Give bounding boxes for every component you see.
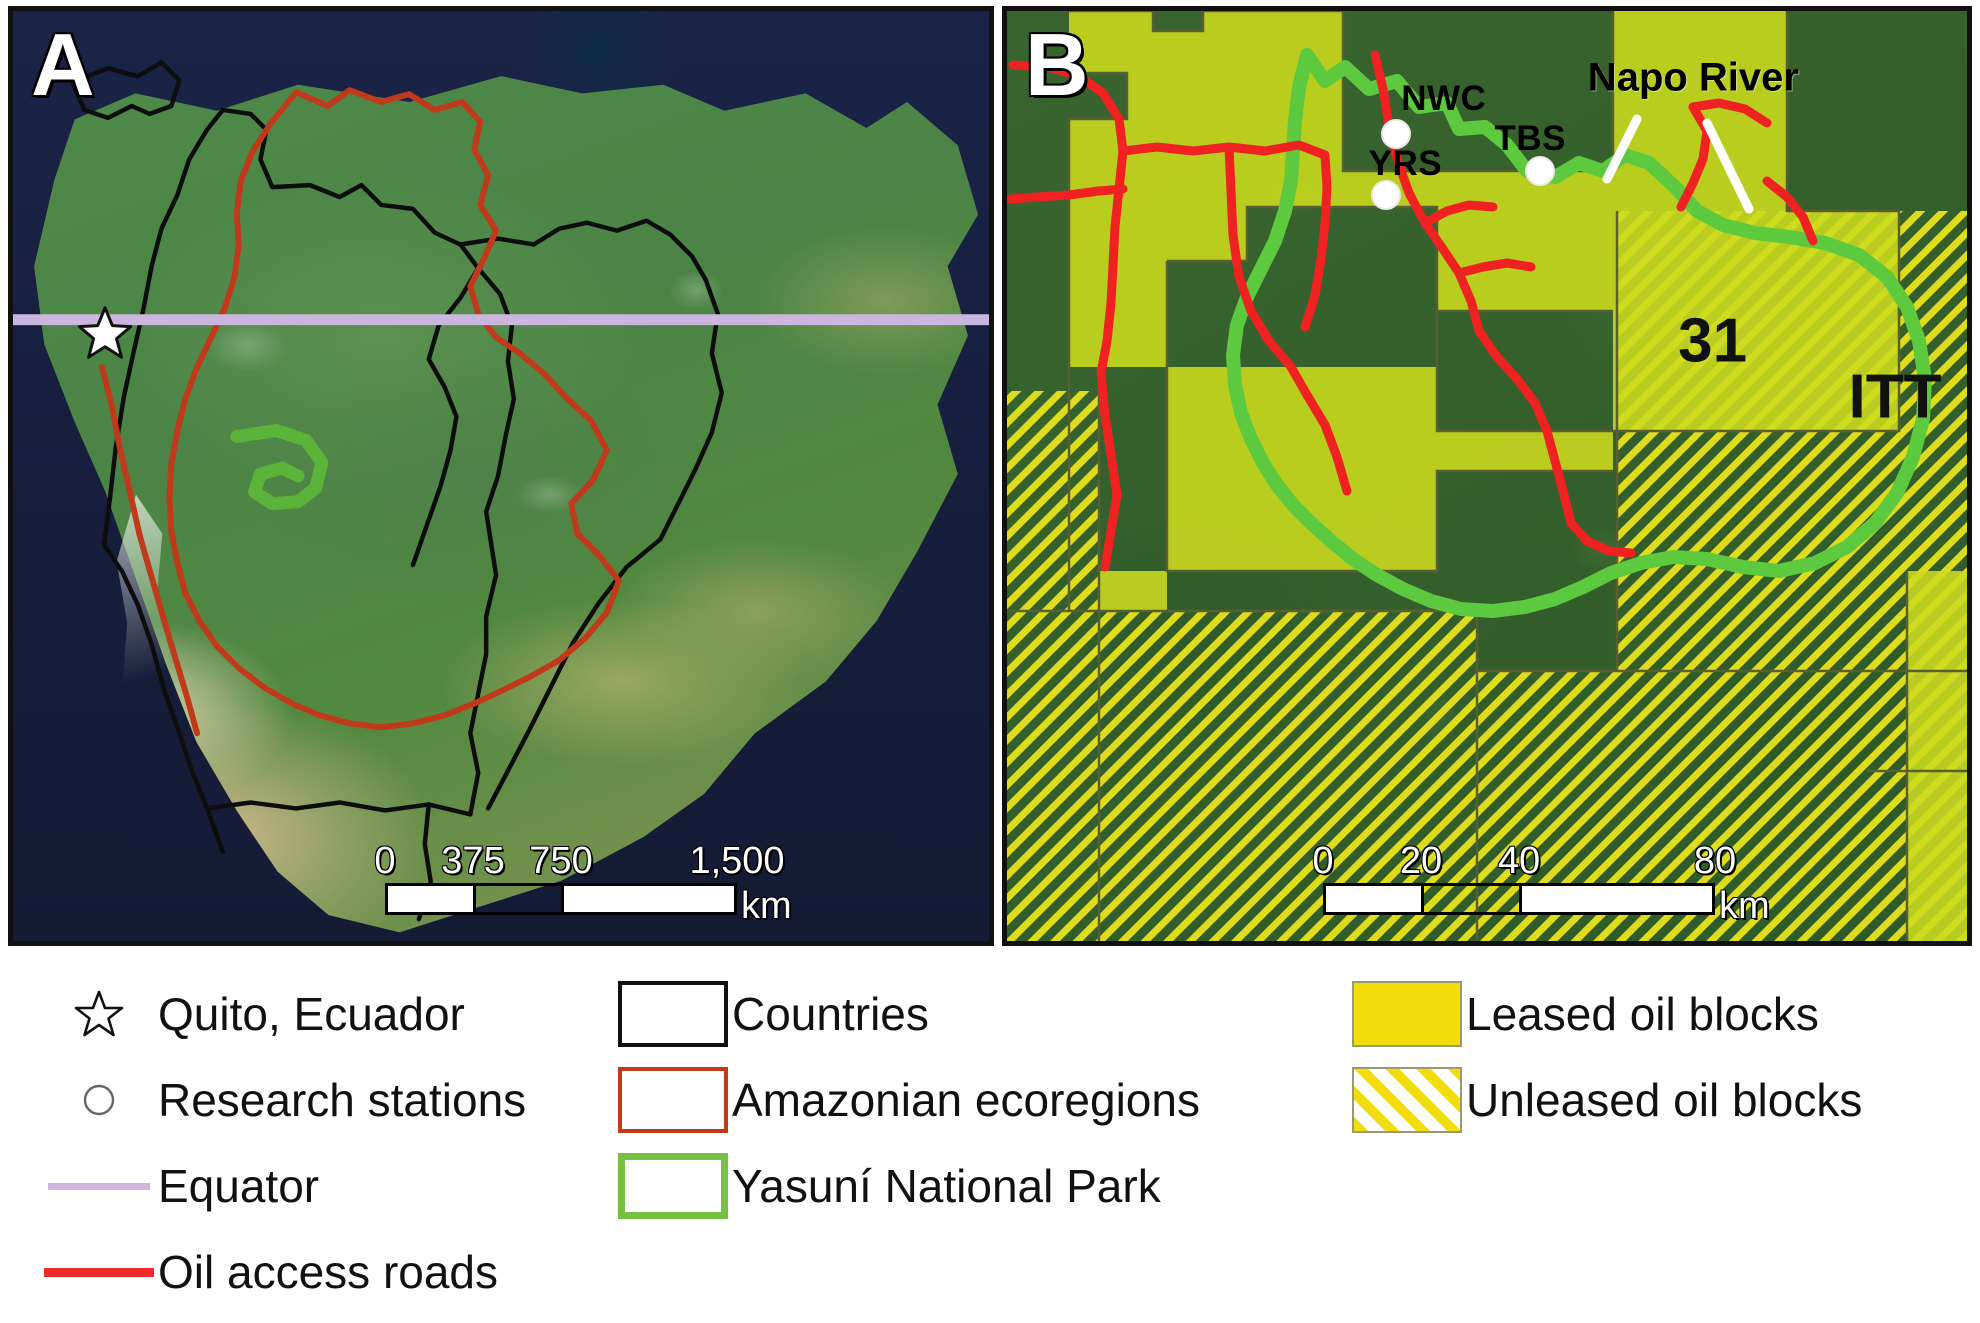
- panel-b-scalebar-ticks: 0 20 40 80: [1323, 837, 1715, 883]
- station-label-nwc: NWC: [1401, 79, 1486, 119]
- legend-label-leased-blocks: Leased oil blocks: [1466, 987, 1819, 1041]
- station-label-yrs: YRS: [1369, 144, 1442, 184]
- box-yellow-hatch-icon: [1348, 1067, 1466, 1133]
- legend-item-oil-roads[interactable]: Oil access roads: [40, 1237, 498, 1307]
- station-marker-tbs[interactable]: [1525, 156, 1555, 186]
- legend-label-research-stations: Research stations: [158, 1073, 526, 1127]
- oil-block-31-label: 31: [1678, 306, 1747, 377]
- scalebar-segment: [388, 886, 476, 912]
- box-yellow-fill-icon: [1348, 981, 1466, 1047]
- legend-label-quito: Quito, Ecuador: [158, 987, 465, 1041]
- legend-label-countries: Countries: [732, 987, 929, 1041]
- itt-block-label: ITT: [1849, 361, 1942, 432]
- panel-a-scalebar: 0 375 750 1,500 km: [385, 837, 737, 915]
- legend-label-equator: Equator: [158, 1159, 319, 1213]
- legend-label-yasuni: Yasuní National Park: [732, 1159, 1161, 1213]
- circle-icon: [40, 1080, 158, 1120]
- legend-item-quito[interactable]: Quito, Ecuador: [40, 979, 465, 1049]
- box-black-icon: [614, 981, 732, 1047]
- panel-b-scalebar: 0 20 40 80 km: [1323, 837, 1715, 915]
- panel-a-regional-map[interactable]: A 0 375 750 1,500 km: [8, 6, 994, 946]
- legend-item-unleased-blocks[interactable]: Unleased oil blocks: [1348, 1065, 1862, 1135]
- star-icon: [40, 988, 158, 1040]
- legend-label-unleased-blocks: Unleased oil blocks: [1466, 1073, 1862, 1127]
- legend-item-countries[interactable]: Countries: [614, 979, 929, 1049]
- panel-b-yasuni-detail-map[interactable]: B NWC TBS YRS Napo River 31 ITT 0 20 40 …: [1002, 6, 1972, 946]
- scalebar-segment: [1326, 886, 1424, 912]
- scalebar-segment: [564, 886, 734, 912]
- legend-item-yasuni[interactable]: Yasuní National Park: [614, 1151, 1161, 1221]
- scalebar-segment: [1522, 886, 1712, 912]
- legend-item-ecoregions[interactable]: Amazonian ecoregions: [614, 1065, 1200, 1135]
- panel-a-cloud-texture: [13, 11, 989, 941]
- station-label-tbs: TBS: [1494, 119, 1566, 159]
- station-marker-yrs[interactable]: [1371, 180, 1401, 210]
- scalebar-segment: [1424, 886, 1522, 912]
- legend-label-ecoregions: Amazonian ecoregions: [732, 1073, 1200, 1127]
- panel-a-scalebar-bar: [385, 883, 737, 915]
- line-road-icon: [40, 1268, 158, 1277]
- legend-label-oil-roads: Oil access roads: [158, 1245, 498, 1299]
- box-green-icon: [614, 1153, 732, 1219]
- napo-river-label: Napo River: [1588, 55, 1799, 100]
- figure-root: A 0 375 750 1,500 km: [0, 0, 1980, 1323]
- panel-b-scalebar-unit: km: [1719, 885, 1770, 928]
- box-red-icon: [614, 1067, 732, 1133]
- figure-legend: Quito, Ecuador Research stations Equator: [0, 955, 1980, 1323]
- panel-b-forest-texture: [1007, 11, 1967, 941]
- maps-container: A 0 375 750 1,500 km: [0, 0, 1980, 952]
- panel-b-scalebar-bar: [1323, 883, 1715, 915]
- panel-b-letter: B: [1025, 21, 1089, 109]
- scalebar-segment: [476, 886, 564, 912]
- panel-a-letter: A: [31, 21, 95, 109]
- legend-item-leased-blocks[interactable]: Leased oil blocks: [1348, 979, 1819, 1049]
- panel-a-scalebar-ticks: 0 375 750 1,500: [385, 837, 737, 883]
- panel-a-scalebar-unit: km: [741, 885, 792, 928]
- line-equator-icon: [40, 1183, 158, 1190]
- legend-item-research-stations[interactable]: Research stations: [40, 1065, 526, 1135]
- legend-item-equator[interactable]: Equator: [40, 1151, 319, 1221]
